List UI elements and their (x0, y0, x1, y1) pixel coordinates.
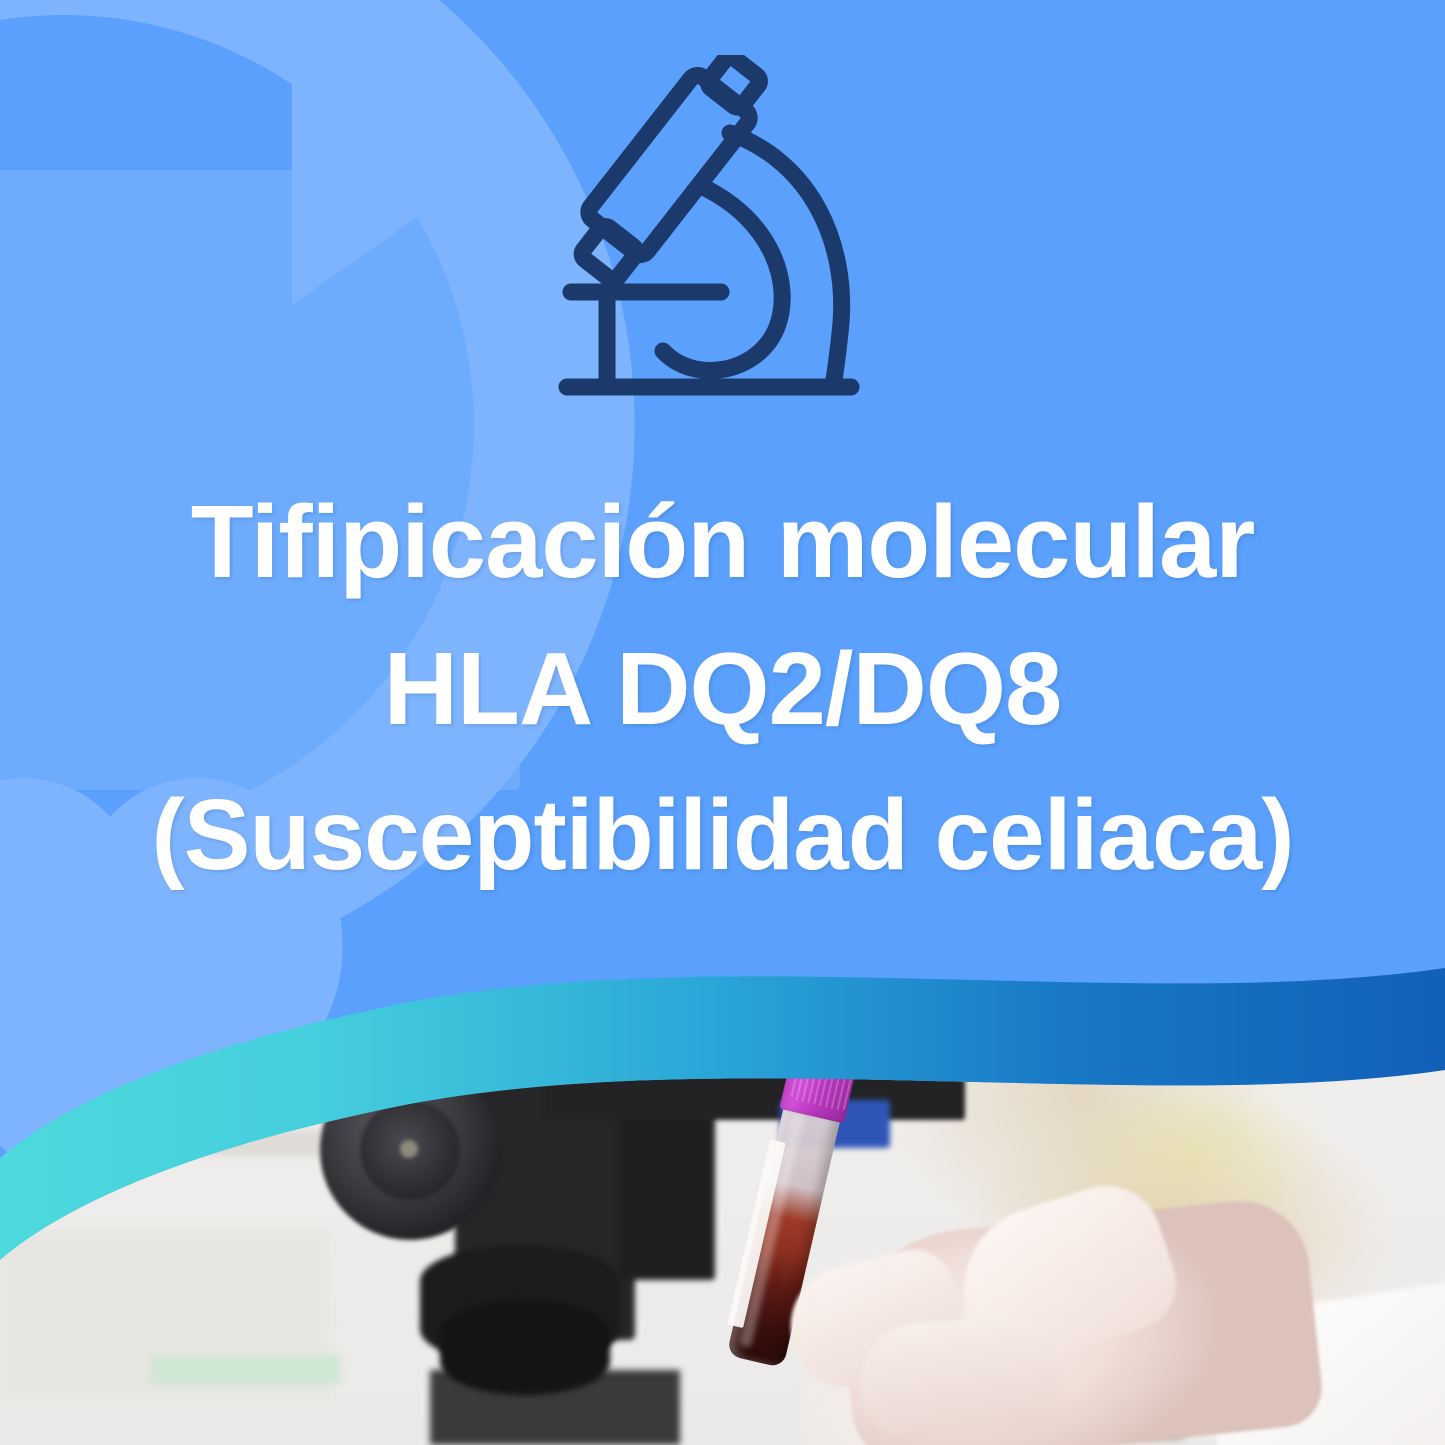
title-line-3: (Susceptibilidad celiaca) (0, 762, 1445, 909)
title-line-2: HLA DQ2/DQ8 (0, 615, 1445, 762)
title-line-1: Tifipicación molecular (0, 468, 1445, 615)
tube-cap-icon (779, 1033, 861, 1124)
laboratory-photo (0, 900, 1445, 1445)
microscope-icon (545, 55, 875, 425)
poster-canvas: Tifipicación molecular HLA DQ2/DQ8 (Susc… (0, 0, 1445, 1445)
page-title: Tifipicación molecular HLA DQ2/DQ8 (Susc… (0, 468, 1445, 909)
